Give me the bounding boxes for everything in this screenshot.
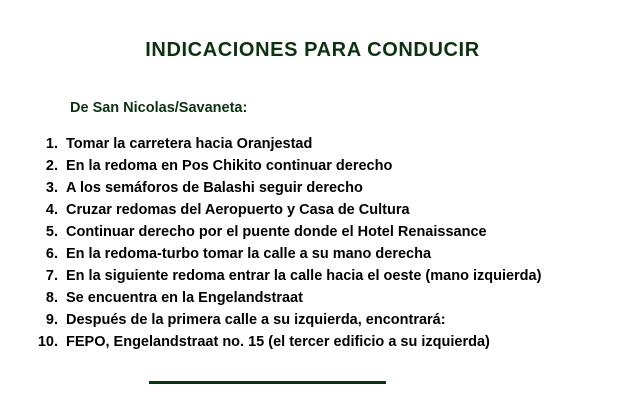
list-item-number: 2. xyxy=(30,158,58,174)
list-item: 5. Continuar derecho por el puente donde… xyxy=(30,224,625,246)
list-item: 10. FEPO, Engelandstraat no. 15 (el terc… xyxy=(30,334,625,356)
list-item: 1. Tomar la carretera hacia Oranjestad xyxy=(30,136,625,158)
document-page: INDICACIONES PARA CONDUCIR De San Nicola… xyxy=(0,0,625,406)
page-title: INDICACIONES PARA CONDUCIR xyxy=(0,39,625,62)
list-item-number: 8. xyxy=(30,290,58,306)
list-item-text: Tomar la carretera hacia Oranjestad xyxy=(66,136,312,152)
list-item-number: 6. xyxy=(30,246,58,262)
list-item-number: 10. xyxy=(30,334,58,350)
directions-list: 1. Tomar la carretera hacia Oranjestad 2… xyxy=(30,136,625,356)
list-item-number: 3. xyxy=(30,180,58,196)
list-item: 4. Cruzar redomas del Aeropuerto y Casa … xyxy=(30,202,625,224)
list-item-text: Cruzar redomas del Aeropuerto y Casa de … xyxy=(66,202,410,218)
list-item-text: En la redoma-turbo tomar la calle a su m… xyxy=(66,246,431,262)
list-item-number: 9. xyxy=(30,312,58,328)
list-item-text: Continuar derecho por el puente donde el… xyxy=(66,224,487,240)
list-item-number: 7. xyxy=(30,268,58,284)
section-heading-origin: De San Nicolas/Savaneta: xyxy=(70,100,247,116)
list-item: 7. En la siguiente redoma entrar la call… xyxy=(30,268,625,290)
list-item: 8. Se encuentra en la Engelandstraat xyxy=(30,290,625,312)
list-item-text: Después de la primera calle a su izquier… xyxy=(66,312,446,328)
list-item-text: A los semáforos de Balashi seguir derech… xyxy=(66,180,363,196)
list-item: 6. En la redoma-turbo tomar la calle a s… xyxy=(30,246,625,268)
list-item: 9. Después de la primera calle a su izqu… xyxy=(30,312,625,334)
list-item-text: Se encuentra en la Engelandstraat xyxy=(66,290,303,306)
list-item-text: En la redoma en Pos Chikito continuar de… xyxy=(66,158,392,174)
list-item: 3. A los semáforos de Balashi seguir der… xyxy=(30,180,625,202)
list-item: 2. En la redoma en Pos Chikito continuar… xyxy=(30,158,625,180)
list-item-text: FEPO, Engelandstraat no. 15 (el tercer e… xyxy=(66,334,490,350)
footer-divider xyxy=(149,381,386,384)
list-item-number: 5. xyxy=(30,224,58,240)
list-item-text: En la siguiente redoma entrar la calle h… xyxy=(66,268,541,284)
list-item-number: 4. xyxy=(30,202,58,218)
list-item-number: 1. xyxy=(30,136,58,152)
